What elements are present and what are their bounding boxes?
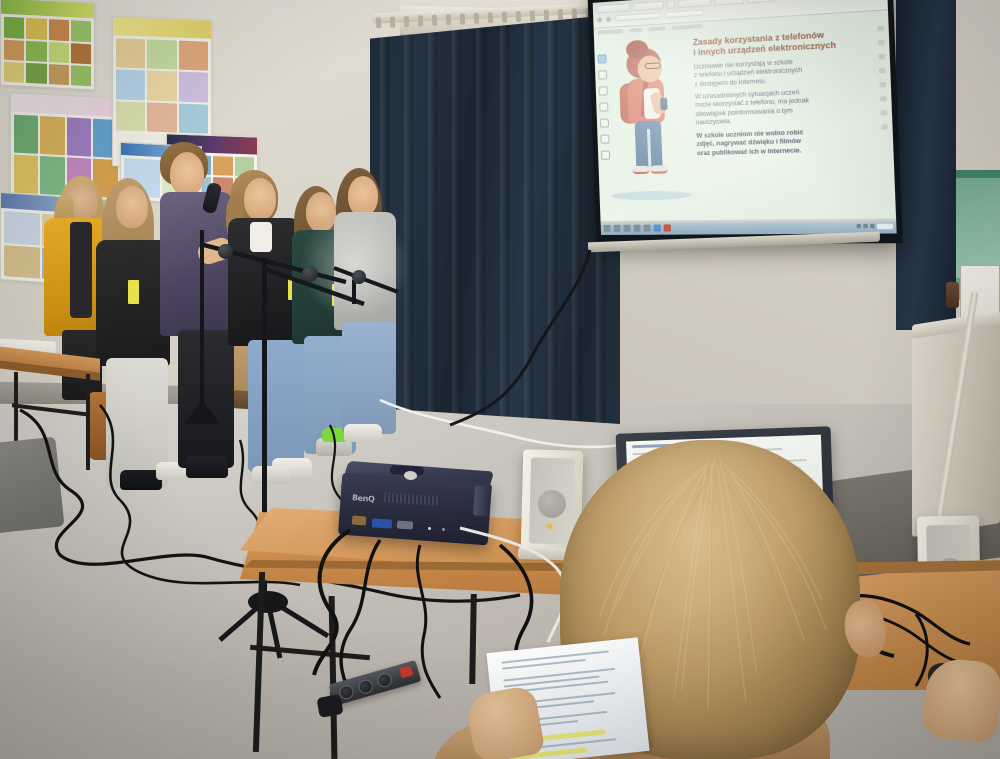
browser-tab[interactable] bbox=[747, 0, 775, 4]
mic-boom-right bbox=[330, 262, 410, 298]
slide-scrollbar[interactable] bbox=[877, 26, 891, 201]
system-tray[interactable] bbox=[856, 223, 893, 229]
battery-icon bbox=[870, 224, 875, 228]
window-curtain-right[interactable] bbox=[896, 0, 956, 330]
network-icon bbox=[856, 224, 861, 228]
slide-paragraph-1: Uczniowie nie korzystają w szkole z tele… bbox=[694, 54, 873, 89]
power-strip-switch[interactable] bbox=[399, 666, 413, 679]
microphone-head-right[interactable] bbox=[352, 270, 366, 284]
slide-text-column: Zasady korzystania z telefonów i innych … bbox=[693, 22, 878, 208]
classroom-scene: Zasady korzystania z telefonów i innych … bbox=[0, 0, 1000, 759]
slide-paragraph-2: W uzasadnionych sytuacjach uczeń może sk… bbox=[695, 86, 874, 128]
browser-tab[interactable] bbox=[678, 0, 711, 8]
power-plug bbox=[316, 694, 343, 718]
poster-top-left bbox=[0, 0, 95, 90]
clock[interactable] bbox=[877, 223, 893, 229]
browser-tab[interactable] bbox=[714, 0, 744, 6]
slide-paragraph-3: W szkole uczniom nie wolno robić zdjęć, … bbox=[696, 126, 875, 158]
microphone-head-center[interactable] bbox=[302, 266, 318, 282]
volume-icon bbox=[863, 224, 868, 228]
radiator-valve[interactable] bbox=[946, 282, 959, 308]
microphone-head-left[interactable] bbox=[218, 244, 233, 259]
projector-hanging-cable bbox=[430, 0, 680, 440]
